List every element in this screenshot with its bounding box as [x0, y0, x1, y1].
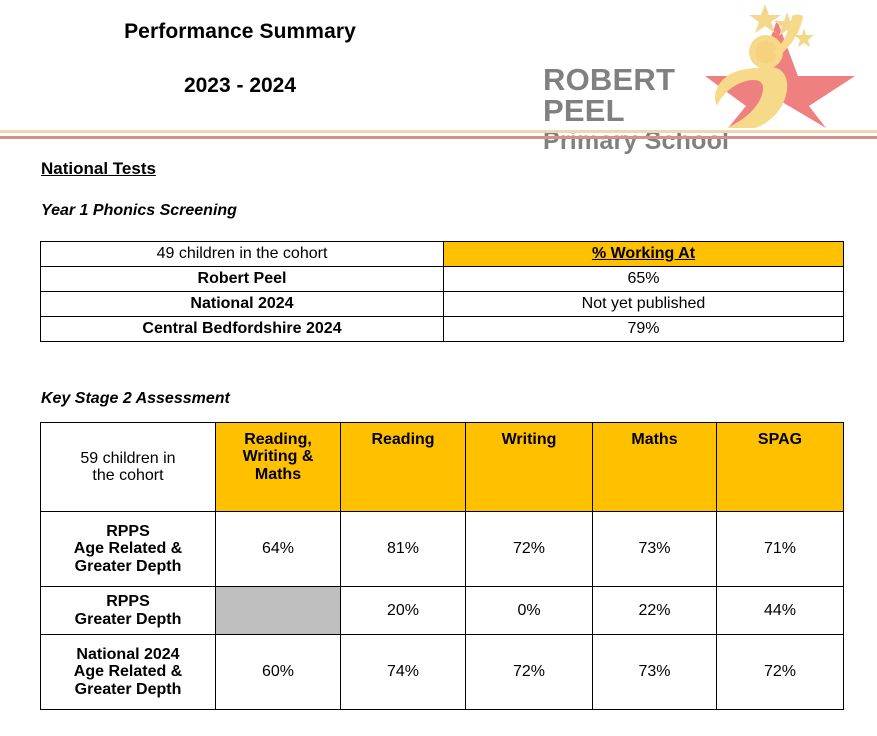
ks2-row-label-line3: Greater Depth — [75, 558, 182, 575]
ks2-cell-value: 22% — [593, 587, 717, 635]
ks2-cell-value: 44% — [717, 587, 844, 635]
ks2-cell-value: 20% — [341, 587, 466, 635]
ks2-cell-value: 73% — [593, 635, 717, 710]
ks2-row-label-line1: National 2024 — [76, 646, 179, 663]
ks2-column-header-line1: Writing — [502, 431, 557, 448]
ks2-column-header-writing: Writing — [466, 423, 593, 512]
ks2-row-label-line2: Greater Depth — [75, 611, 182, 628]
ks2-row-label-line2: Age Related & — [74, 663, 182, 680]
page-subtitle: 2023 - 2024 — [0, 72, 480, 100]
divider-rule-tan — [0, 130, 877, 133]
ks2-column-header-line1: SPAG — [758, 431, 802, 448]
phonics-row-value: 79% — [444, 317, 844, 342]
ks2-cell-value: 72% — [466, 512, 593, 587]
key-stage-2-assessment-table: 59 children in the cohort Reading, Writi… — [40, 422, 844, 710]
ks2-cohort-label-line1: 59 children in — [80, 450, 175, 467]
ks2-row-label-line3: Greater Depth — [75, 681, 182, 698]
phonics-row-label: National 2024 — [41, 292, 444, 317]
ks2-column-header-reading: Reading — [341, 423, 466, 512]
school-logo: ROBERT PEEL Primary School — [537, 2, 855, 128]
table-row: RPPS Age Related & Greater Depth 64% 81%… — [41, 512, 844, 587]
ks2-column-header-line2: Writing & — [243, 448, 314, 465]
phonics-row-value: Not yet published — [444, 292, 844, 317]
table-header-row: 59 children in the cohort Reading, Writi… — [41, 423, 844, 512]
table-row: Robert Peel 65% — [41, 267, 844, 292]
sub-heading-phonics: Year 1 Phonics Screening — [41, 202, 237, 220]
page-title: Performance Summary — [0, 18, 480, 46]
ks2-column-header-line1: Reading, — [244, 431, 312, 448]
ks2-cell-value: 60% — [216, 635, 341, 710]
ks2-column-header-spag: SPAG — [717, 423, 844, 512]
ks2-cell-not-applicable — [216, 587, 341, 635]
table-row: National 2024 Age Related & Greater Dept… — [41, 635, 844, 710]
section-heading-national-tests: National Tests — [41, 159, 156, 179]
ks2-row-label-national-2024: National 2024 Age Related & Greater Dept… — [41, 635, 216, 710]
ks2-column-header-rwm: Reading, Writing & Maths — [216, 423, 341, 512]
phonics-screening-table: 49 children in the cohort % Working At R… — [40, 241, 844, 342]
ks2-cohort-label: 59 children in the cohort — [41, 423, 216, 512]
document-header: Performance Summary 2023 - 2024 ROB — [0, 0, 877, 128]
ks2-row-label-line1: RPPS — [106, 523, 150, 540]
ks2-row-label-line1: RPPS — [106, 593, 150, 610]
ks2-cell-value: 64% — [216, 512, 341, 587]
table-row: RPPS Greater Depth 20% 0% 22% 44% — [41, 587, 844, 635]
ks2-cell-value: 74% — [341, 635, 466, 710]
ks2-row-label-rpps-age-related: RPPS Age Related & Greater Depth — [41, 512, 216, 587]
ks2-cell-value: 81% — [341, 512, 466, 587]
phonics-row-label: Central Bedfordshire 2024 — [41, 317, 444, 342]
ks2-column-header-line1: Reading — [371, 431, 434, 448]
ks2-column-header-line1: Maths — [631, 431, 677, 448]
table-row: National 2024 Not yet published — [41, 292, 844, 317]
logo-wordmark-line1: ROBERT PEEL — [543, 64, 748, 126]
ks2-row-label-rpps-greater-depth: RPPS Greater Depth — [41, 587, 216, 635]
table-row: Central Bedfordshire 2024 79% — [41, 317, 844, 342]
ks2-cell-value: 72% — [717, 635, 844, 710]
ks2-cell-value: 71% — [717, 512, 844, 587]
ks2-cohort-label-line2: the cohort — [92, 467, 163, 484]
title-block: Performance Summary 2023 - 2024 — [0, 18, 480, 100]
ks2-cell-value: 0% — [466, 587, 593, 635]
phonics-row-value: 65% — [444, 267, 844, 292]
sub-heading-key-stage-2: Key Stage 2 Assessment — [41, 390, 230, 408]
phonics-cohort-label: 49 children in the cohort — [41, 242, 444, 267]
logo-wordmark: ROBERT PEEL Primary School — [543, 64, 748, 154]
ks2-column-header-line3: Maths — [255, 466, 301, 483]
phonics-metric-header: % Working At — [444, 242, 844, 267]
ks2-row-label-line2: Age Related & — [74, 540, 182, 557]
phonics-row-label: Robert Peel — [41, 267, 444, 292]
ks2-cell-value: 72% — [466, 635, 593, 710]
ks2-cell-value: 73% — [593, 512, 717, 587]
divider-rule-rose — [0, 136, 877, 139]
ks2-column-header-maths: Maths — [593, 423, 717, 512]
table-row: 49 children in the cohort % Working At — [41, 242, 844, 267]
